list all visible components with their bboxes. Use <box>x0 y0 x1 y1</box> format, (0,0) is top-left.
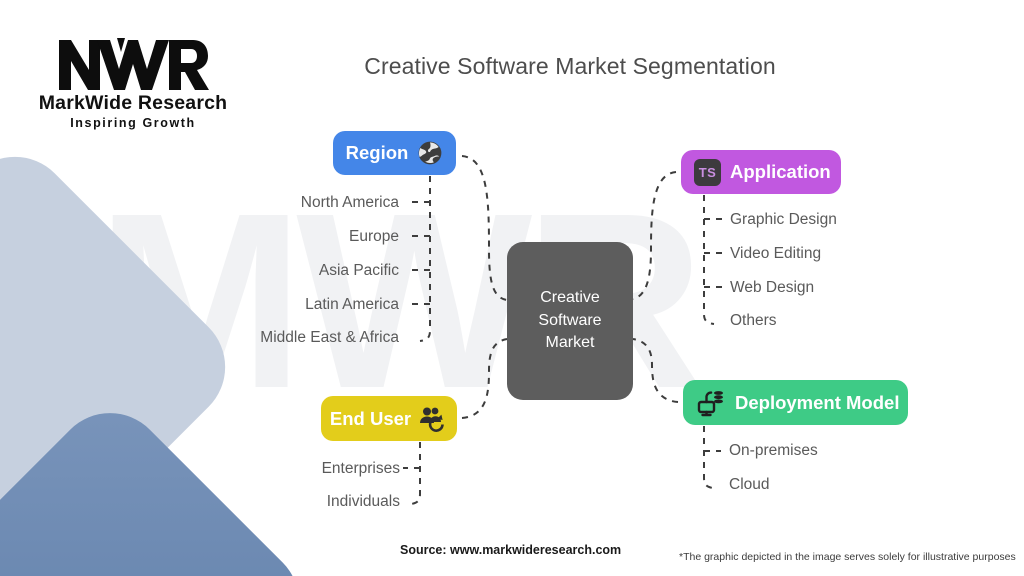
leaf-application-0[interactable]: Graphic Design <box>730 212 837 228</box>
ts-badge-icon: TS <box>694 159 721 186</box>
leaf-application-2[interactable]: Web Design <box>730 280 814 296</box>
center-node-line3: Market <box>546 332 595 355</box>
leaf-deployment-0[interactable]: On-premises <box>729 443 818 459</box>
leaf-region-2[interactable]: Asia Pacific <box>319 263 399 279</box>
source-credit: Source: www.markwideresearch.com <box>400 543 621 557</box>
users-refresh-icon <box>418 405 448 433</box>
leaf-application-1[interactable]: Video Editing <box>730 246 821 262</box>
center-node-line1: Creative <box>540 287 600 310</box>
ts-badge-label: TS <box>694 159 721 186</box>
branch-node-application[interactable]: TS Application <box>681 150 841 194</box>
leaf-region-4[interactable]: Middle East & Africa <box>260 330 399 346</box>
disclaimer-text: *The graphic depicted in the image serve… <box>679 551 1016 563</box>
leaf-end-user-1[interactable]: Individuals <box>327 494 400 510</box>
server-monitor-icon <box>697 389 725 417</box>
slide-canvas: MWR MarkWide Research Inspiring Growth C… <box>0 0 1024 576</box>
branch-label-deployment-model: Deployment Model <box>735 392 899 414</box>
globe-icon <box>417 140 443 166</box>
branch-node-deployment-model[interactable]: Deployment Model <box>683 380 908 425</box>
leaf-application-3[interactable]: Others <box>730 313 777 329</box>
branch-node-region[interactable]: Region <box>333 131 456 175</box>
center-node[interactable]: Creative Software Market <box>507 242 633 400</box>
leaf-end-user-0[interactable]: Enterprises <box>322 461 400 477</box>
leaf-region-0[interactable]: North America <box>301 195 399 211</box>
leaf-deployment-1[interactable]: Cloud <box>729 477 770 493</box>
leaf-region-3[interactable]: Latin America <box>305 297 399 313</box>
branch-node-end-user[interactable]: End User <box>321 396 457 441</box>
leaf-region-1[interactable]: Europe <box>349 229 399 245</box>
center-node-line2: Software <box>538 310 601 333</box>
branch-label-application: Application <box>730 161 831 183</box>
branch-label-end-user: End User <box>330 408 411 430</box>
branch-label-region: Region <box>346 142 409 164</box>
